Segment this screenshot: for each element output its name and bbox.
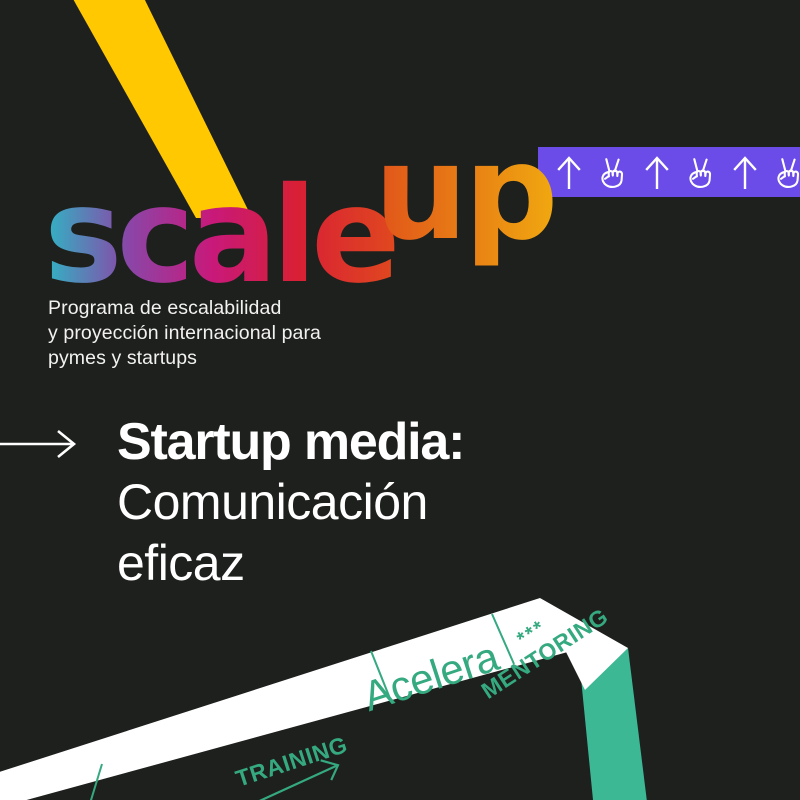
peace-hand-icon <box>598 155 628 189</box>
ribbon-divider <box>88 764 102 800</box>
wordmark-up: up <box>374 116 554 270</box>
program-subtitle: Programa de escalabilidad y proyección i… <box>48 296 321 371</box>
icon-bar <box>538 147 800 197</box>
headline-line-2: Comunicación <box>117 472 677 533</box>
wordmark-scale: scale <box>44 159 395 313</box>
brand-wordmark: scale up <box>0 0 800 800</box>
ribbon-leg <box>580 648 648 800</box>
poster-canvas: scale up Programa de escalabilidad y pro… <box>0 0 800 800</box>
arrow-up-icon <box>732 155 758 189</box>
arrow-right-icon <box>235 756 342 800</box>
headline-block: Startup media: Comunicación eficaz <box>117 412 677 594</box>
program-stages-ribbon: TRAINING Acelera *** MENTORING <box>0 0 800 800</box>
ribbon-label-mentoring: MENTORING <box>477 603 613 704</box>
arrow-up-icon <box>556 155 582 189</box>
peace-hand-icon <box>774 155 800 189</box>
ribbon-fold <box>580 648 628 690</box>
arrow-right-icon <box>0 428 82 460</box>
ribbon-band <box>0 598 575 800</box>
headline-line-1: Startup media: <box>117 412 677 472</box>
ribbon-label-acelera: Acelera <box>357 632 505 720</box>
headline-line-3: eficaz <box>117 533 677 594</box>
arrow-up-icon <box>644 155 670 189</box>
ribbon-stars: *** <box>513 616 550 650</box>
peace-hand-icon <box>686 155 716 189</box>
ribbon-divider <box>492 614 514 664</box>
yellow-diagonal-stripe <box>0 0 800 800</box>
ribbon-label-training: TRAINING <box>232 731 350 792</box>
ribbon-divider <box>371 651 391 701</box>
